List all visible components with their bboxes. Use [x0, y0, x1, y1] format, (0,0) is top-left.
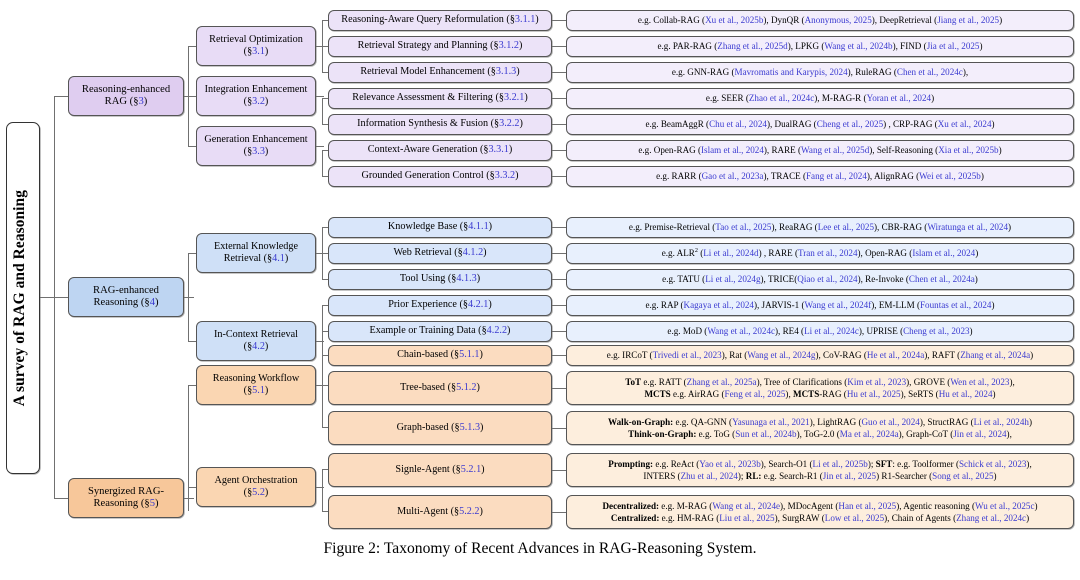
- example-text-line: Centralized: e.g. HM-RAG (Liu et al., 20…: [611, 513, 1029, 523]
- connector: [322, 98, 323, 124]
- example-box-tool-using: e.g. TATU (Li et al., 2024g), TRICE(Qiao…: [566, 269, 1074, 290]
- leaf-label: Tool Using (§4.1.3): [333, 273, 547, 285]
- category-label: In-Context Retrieval (§4.2): [201, 329, 311, 353]
- connector: [322, 150, 323, 176]
- connector: [552, 331, 566, 332]
- example-box-single-agent: Prompting: e.g. ReAct (Yao et al., 2023b…: [566, 453, 1074, 487]
- connector: [552, 388, 566, 389]
- leaf-label: Knowledge Base (§4.1.1): [333, 221, 547, 233]
- leaf-information-synthesis-fusion[interactable]: Information Synthesis & Fusion (§3.2.2): [328, 114, 552, 135]
- example-text: e.g. SEER (Zhao et al., 2024c), M-RAG-R …: [571, 92, 1069, 104]
- connector: [54, 96, 68, 97]
- branch-synergized-rag-reasoning[interactable]: Synergized RAG-Reasoning (§5): [68, 478, 184, 518]
- leaf-grounded-generation-control[interactable]: Grounded Generation Control (§3.3.2): [328, 166, 552, 187]
- leaf-label: Retrieval Model Enhancement (§3.1.3): [333, 66, 547, 78]
- connector: [188, 146, 196, 147]
- branch-label: Synergized RAG-Reasoning (§5): [73, 486, 179, 511]
- example-text: e.g. PAR-RAG (Zhang et al., 2025d), LPKG…: [571, 40, 1069, 52]
- leaf-label: Information Synthesis & Fusion (§3.2.2): [333, 118, 547, 130]
- leaf-reasoning-aware-query-reformulation[interactable]: Reasoning-Aware Query Reformulation (§3.…: [328, 10, 552, 31]
- leaf-tree-based[interactable]: Tree-based (§5.1.2): [328, 371, 552, 405]
- example-text: e.g. Collab-RAG (Xu et al., 2025b), DynQ…: [571, 14, 1069, 26]
- leaf-label: Context-Aware Generation (§3.3.1): [333, 144, 547, 156]
- category-generation-enhancement[interactable]: Generation Enhancement (§3.3): [196, 126, 316, 166]
- category-label: Reasoning Workflow (§5.1): [201, 373, 311, 397]
- connector: [40, 297, 54, 298]
- connector: [552, 176, 566, 177]
- connector: [316, 146, 324, 147]
- leaf-single-agent[interactable]: Signle-Agent (§5.2.1): [328, 453, 552, 487]
- connector: [552, 20, 566, 21]
- connector: [322, 355, 323, 427]
- example-box-grounded-generation: e.g. RARR (Gao et al., 2023a), TRACE (Fa…: [566, 166, 1074, 187]
- example-text: e.g. RARR (Gao et al., 2023a), TRACE (Fa…: [571, 170, 1069, 182]
- leaf-label: Prior Experience (§4.2.1): [333, 299, 547, 311]
- connector: [552, 46, 566, 47]
- figure-caption: Figure 2: Taxonomy of Recent Advances in…: [0, 540, 1080, 558]
- example-box-graph-based: Walk-on-Graph: e.g. QA-GNN (Yasunaga et …: [566, 411, 1074, 445]
- category-integration-enhancement[interactable]: Integration Enhancement (§3.2): [196, 76, 316, 116]
- connector: [188, 46, 196, 47]
- leaf-label: Tree-based (§5.1.2): [333, 382, 547, 394]
- connector: [552, 305, 566, 306]
- leaf-example-or-training-data[interactable]: Example or Training Data (§4.2.2): [328, 321, 552, 342]
- example-text: e.g. BeamAggR (Chu et al., 2024), DualRA…: [571, 118, 1069, 130]
- connector: [322, 469, 323, 511]
- taxonomy-figure: A survey of RAG and Reasoning Reasoning-…: [0, 0, 1080, 580]
- category-retrieval-optimization[interactable]: Retrieval Optimization (§3.1): [196, 26, 316, 66]
- connector: [188, 96, 196, 97]
- category-reasoning-workflow[interactable]: Reasoning Workflow (§5.1): [196, 365, 316, 405]
- category-external-knowledge-retrieval[interactable]: External Knowledge Retrieval (§4.1): [196, 233, 316, 273]
- leaf-label: Reasoning-Aware Query Reformulation (§3.…: [333, 14, 547, 26]
- connector: [552, 150, 566, 151]
- connector: [552, 279, 566, 280]
- example-box-prior-experience: e.g. RAP (Kagaya et al., 2024), JARVIS-1…: [566, 295, 1074, 316]
- branch-label: RAG-enhanced Reasoning (§4): [73, 285, 179, 310]
- leaf-label: Multi-Agent (§5.2.2): [333, 506, 547, 518]
- leaf-label: Retrieval Strategy and Planning (§3.1.2): [333, 40, 547, 52]
- connector: [552, 227, 566, 228]
- example-box-tree-based: ToT e.g. RATT (Zhang et al., 2025a), Tre…: [566, 371, 1074, 405]
- leaf-multi-agent[interactable]: Multi-Agent (§5.2.2): [328, 495, 552, 529]
- example-box-retrieval-model: e.g. GNN-RAG (Mavromatis and Karypis, 20…: [566, 62, 1074, 83]
- branch-rag-enhanced-reasoning[interactable]: RAG-enhanced Reasoning (§4): [68, 277, 184, 317]
- example-box-relevance-assessment: e.g. SEER (Zhao et al., 2024c), M-RAG-R …: [566, 88, 1074, 109]
- example-box-multi-agent: Decentralized: e.g. M-RAG (Wang et al., …: [566, 495, 1074, 529]
- leaf-knowledge-base[interactable]: Knowledge Base (§4.1.1): [328, 217, 552, 238]
- connector: [316, 96, 324, 97]
- example-text: e.g. ALR2 (Li et al., 2024d) , RARE (Tra…: [571, 247, 1069, 259]
- category-label: Integration Enhancement (§3.2): [201, 84, 311, 108]
- category-label: Generation Enhancement (§3.3): [201, 134, 311, 158]
- leaf-label: Chain-based (§5.1.1): [333, 349, 547, 361]
- connector: [552, 428, 566, 429]
- leaf-graph-based[interactable]: Graph-based (§5.1.3): [328, 411, 552, 445]
- leaf-label: Example or Training Data (§4.2.2): [333, 325, 547, 337]
- connector: [188, 487, 196, 488]
- example-text-line: ToT e.g. RATT (Zhang et al., 2025a), Tre…: [625, 377, 1015, 387]
- example-text: e.g. RAP (Kagaya et al., 2024), JARVIS-1…: [571, 299, 1069, 311]
- leaf-label: Grounded Generation Control (§3.3.2): [333, 170, 547, 182]
- branch-label: Reasoning-enhanced RAG (§3): [73, 84, 179, 109]
- leaf-label: Graph-based (§5.1.3): [333, 422, 547, 434]
- connector: [188, 341, 196, 342]
- example-text: e.g. Open-RAG (Islam et al., 2024), RARE…: [571, 144, 1069, 156]
- category-agent-orchestration[interactable]: Agent Orchestration (§5.2): [196, 467, 316, 507]
- root-node: A survey of RAG and Reasoning: [6, 122, 40, 474]
- connector: [188, 253, 196, 254]
- example-text-line: MCTS e.g. AirRAG (Feng et al., 2025), MC…: [644, 389, 995, 399]
- leaf-retrieval-strategy-and-planning[interactable]: Retrieval Strategy and Planning (§3.1.2): [328, 36, 552, 57]
- example-text: e.g. MoD (Wang et al., 2024c), RE4 (Li e…: [571, 325, 1069, 337]
- connector: [552, 72, 566, 73]
- root-label: A survey of RAG and Reasoning: [11, 190, 35, 406]
- example-box-chain-based: e.g. IRCoT (Trivedi et al., 2023), Rat (…: [566, 345, 1074, 366]
- leaf-label: Signle-Agent (§5.2.1): [333, 464, 547, 476]
- category-label: Retrieval Optimization (§3.1): [201, 34, 311, 58]
- example-text: e.g. Premise-Retrieval (Tao et al., 2025…: [571, 221, 1069, 233]
- example-text: e.g. IRCoT (Trivedi et al., 2023), Rat (…: [571, 349, 1069, 361]
- connector: [188, 385, 189, 511]
- leaf-retrieval-model-enhancement[interactable]: Retrieval Model Enhancement (§3.1.3): [328, 62, 552, 83]
- example-text-line: Think-on-Graph: e.g. ToG (Sun et al., 20…: [628, 429, 1012, 439]
- connector: [188, 385, 196, 386]
- connector: [552, 470, 566, 471]
- example-box-knowledge-base: e.g. Premise-Retrieval (Tao et al., 2025…: [566, 217, 1074, 238]
- example-text-line: Prompting: e.g. ReAct (Yao et al., 2023b…: [608, 459, 1031, 469]
- example-box-retrieval-strategy: e.g. PAR-RAG (Zhang et al., 2025d), LPKG…: [566, 36, 1074, 57]
- category-in-context-retrieval[interactable]: In-Context Retrieval (§4.2): [196, 321, 316, 361]
- example-text-line: INTERS (Zhu et al., 2024); RL: e.g. Sear…: [643, 471, 996, 481]
- leaf-prior-experience[interactable]: Prior Experience (§4.2.1): [328, 295, 552, 316]
- example-text-line: Walk-on-Graph: e.g. QA-GNN (Yasunaga et …: [608, 417, 1032, 427]
- example-box-context-aware-generation: e.g. Open-RAG (Islam et al., 2024), RARE…: [566, 140, 1074, 161]
- category-label: External Knowledge Retrieval (§4.1): [201, 241, 311, 265]
- connector: [552, 124, 566, 125]
- connector: [552, 355, 566, 356]
- example-box-query-reformulation: e.g. Collab-RAG (Xu et al., 2025b), DynQ…: [566, 10, 1074, 31]
- category-label: Agent Orchestration (§5.2): [201, 475, 311, 499]
- leaf-chain-based[interactable]: Chain-based (§5.1.1): [328, 345, 552, 366]
- leaf-web-retrieval[interactable]: Web Retrieval (§4.1.2): [328, 243, 552, 264]
- leaf-context-aware-generation[interactable]: Context-Aware Generation (§3.3.1): [328, 140, 552, 161]
- connector: [188, 253, 189, 341]
- example-text: e.g. GNN-RAG (Mavromatis and Karypis, 20…: [571, 66, 1069, 78]
- connector: [54, 498, 68, 499]
- leaf-label: Web Retrieval (§4.1.2): [333, 247, 547, 259]
- branch-reasoning-enhanced-rag[interactable]: Reasoning-enhanced RAG (§3): [68, 76, 184, 116]
- example-box-example-training-data: e.g. MoD (Wang et al., 2024c), RE4 (Li e…: [566, 321, 1074, 342]
- connector: [54, 297, 68, 298]
- example-box-information-synthesis: e.g. BeamAggR (Chu et al., 2024), DualRA…: [566, 114, 1074, 135]
- leaf-label: Relevance Assessment & Filtering (§3.2.1…: [333, 92, 547, 104]
- connector: [552, 253, 566, 254]
- leaf-relevance-assessment-filtering[interactable]: Relevance Assessment & Filtering (§3.2.1…: [328, 88, 552, 109]
- connector: [552, 512, 566, 513]
- example-text: e.g. TATU (Li et al., 2024g), TRICE(Qiao…: [571, 273, 1069, 285]
- example-text-line: Decentralized: e.g. M-RAG (Wang et al., …: [602, 501, 1037, 511]
- leaf-tool-using[interactable]: Tool Using (§4.1.3): [328, 269, 552, 290]
- connector: [552, 98, 566, 99]
- example-box-web-retrieval: e.g. ALR2 (Li et al., 2024d) , RARE (Tra…: [566, 243, 1074, 264]
